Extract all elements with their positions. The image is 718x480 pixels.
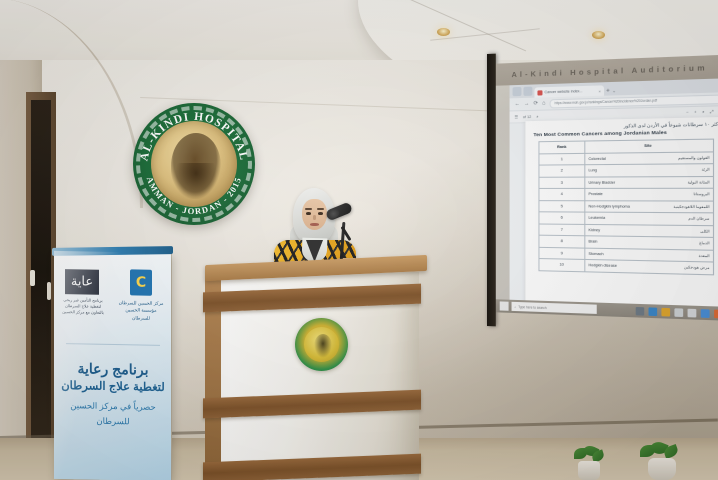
emblem-bottom-text-path: AMMAN - JORDAN - 2015 <box>145 175 243 216</box>
mail-icon[interactable] <box>688 308 697 317</box>
zoom-out-icon[interactable]: − <box>686 110 688 115</box>
forward-icon[interactable]: → <box>524 101 529 107</box>
eyebrow <box>317 208 324 210</box>
site-english: Non-Hodgkin lymphoma <box>588 204 629 208</box>
file-explorer-icon[interactable] <box>661 307 670 316</box>
close-icon[interactable]: × <box>598 88 600 93</box>
pdf-document-page: أكثر ١٠ سرطانات شيوعاً في الأردن لدى الذ… <box>525 117 718 321</box>
site-arabic: الدماغ <box>699 241 709 245</box>
cell-rank: 8 <box>539 235 585 247</box>
sidebar-toggle-icon[interactable]: ☰ <box>515 114 518 119</box>
table-body: 1 Colorectal القولون والمستقيم 2 Lung <box>539 151 714 274</box>
site-arabic: البروستاتا <box>694 192 710 196</box>
podium-hospital-emblem <box>295 318 348 371</box>
site-arabic: الرئة <box>702 168 710 172</box>
search-icon[interactable]: ⌕ <box>536 114 538 118</box>
table-row: 5 Non-Hodgkin lymphoma اللمفوما اللاهودج… <box>539 200 714 213</box>
cell-rank: 7 <box>539 223 585 235</box>
site-english: Colorectal <box>588 157 605 161</box>
site-english: Kidney <box>588 228 600 232</box>
cell-site: Urinary Bladder المثانة البولية <box>585 176 714 188</box>
tab-overview-icon[interactable] <box>513 87 522 96</box>
taskbar-search-input[interactable]: ⌕ Type here to search <box>512 302 597 314</box>
site-english: Hodgkin disease <box>588 263 616 268</box>
home-icon[interactable]: ⌂ <box>542 100 545 106</box>
start-button-icon[interactable] <box>500 301 509 310</box>
store-icon[interactable] <box>674 308 683 317</box>
fullscreen-icon[interactable]: ⤢ <box>710 110 713 115</box>
document-app-icon[interactable] <box>701 309 710 318</box>
ceiling-spotlight-icon <box>437 28 450 36</box>
media-app-icon[interactable] <box>714 309 718 318</box>
site-english: Brain <box>588 240 597 244</box>
new-tab-button[interactable]: + <box>606 88 610 94</box>
table-row: 2 Lung الرئة <box>539 164 714 177</box>
projection-screen: Al-Kindi Hospital Auditorium Cancer webs… <box>487 48 718 336</box>
back-icon[interactable]: ← <box>515 101 520 107</box>
search-icon: ⌕ <box>515 304 517 308</box>
cell-rank: 3 <box>539 177 585 189</box>
podium-emblem-inner <box>304 327 339 362</box>
rollup-banner: عاية برنامج التأمين غير ربحي لتغطية علاج… <box>54 251 171 480</box>
search-placeholder: Type here to search <box>518 305 546 310</box>
table-row: 10 Hodgkin disease مرض هودجكين <box>539 259 714 275</box>
site-arabic: الكلى <box>700 229 709 233</box>
tab-title: Cancer website index... <box>545 89 583 94</box>
auditorium-photo-scene: AL-KINDI HOSPITAL AMMAN - JORDAN - 2015 … <box>0 0 718 480</box>
plant-pot <box>648 458 676 480</box>
eye <box>306 212 311 215</box>
column-header-rank: Rank <box>539 141 585 153</box>
site-arabic: اللمفوما اللاهودجكينية <box>673 204 709 208</box>
ceiling-spotlight-icon <box>592 31 605 39</box>
zoom-in-icon[interactable]: + <box>694 110 696 115</box>
emblem-bottom-text: AMMAN - JORDAN - 2015 <box>133 103 255 225</box>
browser-taskbar-icon[interactable] <box>649 307 658 316</box>
cell-rank: 1 <box>539 153 585 165</box>
tab-history-icon[interactable] <box>523 87 532 96</box>
podium <box>213 260 419 480</box>
banner-glare <box>54 251 171 480</box>
browser-window[interactable]: Cancer website index... × + ⌄ ← → ⟳ ⌂ ht… <box>510 78 718 321</box>
cell-rank: 4 <box>539 188 585 200</box>
site-english: Urinary Bladder <box>588 180 615 184</box>
cell-rank: 5 <box>539 200 585 212</box>
cell-site: Colorectal القولون والمستقيم <box>585 151 714 164</box>
cancer-incidence-table: Rank Site 1 Colorectal القولون والمستقيم <box>538 139 714 275</box>
browser-tab[interactable]: Cancer website index... × <box>534 85 604 97</box>
podium-emblem-portrait-icon <box>314 334 332 358</box>
site-english: Prostate <box>588 192 602 196</box>
cell-site: Lung الرئة <box>585 164 714 177</box>
eyebrow <box>305 208 312 210</box>
site-arabic: مرض هودجكين <box>684 265 710 270</box>
page-indicator: of 12 <box>523 114 531 118</box>
tab-favicon-icon <box>537 90 542 95</box>
eye <box>318 212 323 215</box>
cell-rank: 10 <box>539 259 585 272</box>
plant-pot <box>578 461 600 480</box>
projection-screen-frame <box>487 54 496 327</box>
mouth <box>310 223 319 226</box>
task-view-icon[interactable] <box>636 306 645 315</box>
table-row: 4 Prostate البروستاتا <box>539 188 714 200</box>
cell-site: Prostate البروستاتا <box>585 188 714 200</box>
cell-rank: 9 <box>539 247 585 260</box>
wall-hospital-emblem: AL-KINDI HOSPITAL AMMAN - JORDAN - 2015 <box>133 103 255 225</box>
reload-icon[interactable]: ⟳ <box>533 101 538 107</box>
site-arabic: المعدة <box>699 253 710 257</box>
site-arabic: القولون والمستقيم <box>678 155 709 160</box>
projected-desktop: Al-Kindi Hospital Auditorium Cancer webs… <box>496 55 718 321</box>
chevron-down-icon[interactable]: ⌄ <box>612 88 616 94</box>
find-icon[interactable]: ⌕ <box>702 110 704 115</box>
site-arabic: المثانة البولية <box>688 180 710 184</box>
potted-plant <box>640 442 684 480</box>
cell-site: Hodgkin disease مرض هودجكين <box>585 259 714 274</box>
door-handle <box>47 282 51 300</box>
site-english: Stomach <box>588 252 603 256</box>
cell-rank: 2 <box>539 165 585 177</box>
table-row: 3 Urinary Bladder المثانة البولية <box>539 176 714 188</box>
site-arabic: سرطان الدم <box>688 217 709 221</box>
cell-rank: 6 <box>539 212 585 224</box>
door-handle <box>30 270 35 286</box>
cell-site: Non-Hodgkin lymphoma اللمفوما اللاهودجكي… <box>585 200 714 213</box>
nose <box>313 215 316 220</box>
site-english: Leukemia <box>588 216 605 220</box>
auditorium-header-text: Al-Kindi Hospital Auditorium <box>512 62 708 78</box>
potted-plant <box>572 446 606 480</box>
svg-text:AMMAN - JORDAN - 2015: AMMAN - JORDAN - 2015 <box>145 175 243 216</box>
url-text: https://www.moh.gov.jo/rankings/Cancer%2… <box>555 98 657 105</box>
viewer-tools-group[interactable]: − + ⌕ ⤢ ⬚ <box>686 109 718 115</box>
site-english: Lung <box>588 168 597 172</box>
taskbar-icon-group[interactable] <box>636 306 718 318</box>
